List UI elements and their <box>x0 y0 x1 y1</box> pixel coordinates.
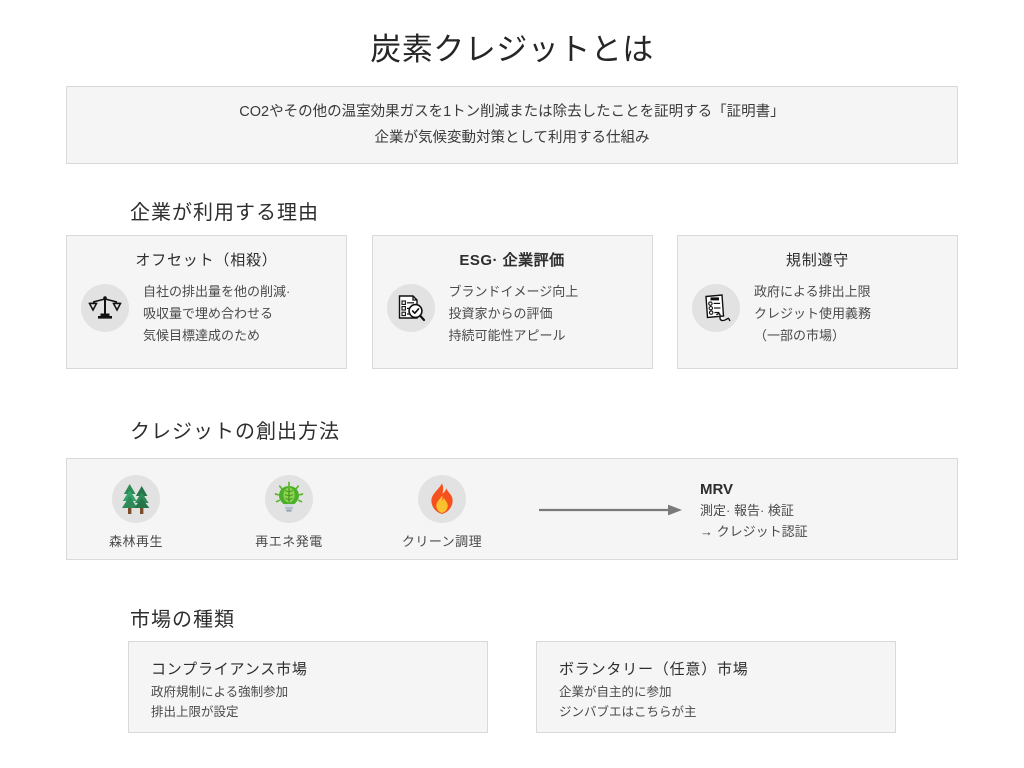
mrv-line: → クレジット認証 <box>700 521 808 542</box>
creation-method-renewable: 再エネ発電 <box>234 475 344 550</box>
icon-circle <box>692 284 740 332</box>
mrv-block: MRV 測定· 報告· 検証 → クレジット認証 <box>700 479 808 542</box>
market-card-compliance: コンプライアンス市場 政府規制による強制参加 排出上限が設定 <box>128 641 488 733</box>
reason-line: ブランドイメージ向上 <box>449 281 579 303</box>
reason-card-body: 自社の排出量を他の削減· 吸収量で埋め合わせる 気候目標達成のため <box>81 280 336 347</box>
reason-line: （一部の市場） <box>754 325 871 347</box>
mrv-title: MRV <box>700 479 808 500</box>
reason-line: 気候目標達成のため <box>143 325 290 347</box>
market-line: 排出上限が設定 <box>151 702 487 722</box>
market-line: 企業が自主的に参加 <box>559 682 895 702</box>
reason-card-esg: ESG· 企業評価 <box>372 235 653 369</box>
creation-method-label: クリーン調理 <box>387 531 497 550</box>
market-line: 政府規制による強制参加 <box>151 682 487 702</box>
section-heading-markets: 市場の種類 <box>130 603 235 632</box>
market-line: ジンバブエはこちらが主 <box>559 702 895 722</box>
infographic-page: 炭素クレジットとは CO2やその他の温室効果ガスを1トン削減または除去したことを… <box>0 0 1024 768</box>
reason-line: 持続可能性アピール <box>449 325 579 347</box>
reason-card-lines: 政府による排出上限 クレジット使用義務 （一部の市場） <box>754 280 871 347</box>
reason-line: 吸収量で埋め合わせる <box>143 303 290 325</box>
markets-row: コンプライアンス市場 政府規制による強制参加 排出上限が設定 ボランタリー（任意… <box>128 641 896 733</box>
reason-card-title: オフセット（相殺） <box>67 249 346 270</box>
subtitle-line-2: 企業が気候変動対策として利用する仕組み <box>374 125 649 151</box>
mrv-line: 測定· 報告· 検証 <box>700 500 808 521</box>
reason-card-compliance: 規制遵守 政府による排出上限 <box>677 235 958 369</box>
reason-line: 政府による排出上限 <box>754 281 871 303</box>
right-arrow-icon <box>539 504 684 516</box>
green-lightbulb-icon <box>271 481 307 517</box>
subtitle-box: CO2やその他の温室効果ガスを1トン削減または除去したことを証明する「証明書」 … <box>66 86 958 164</box>
icon-circle <box>387 284 435 332</box>
reason-line: 自社の排出量を他の削減· <box>143 281 290 303</box>
reason-card-offset: オフセット（相殺） <box>66 235 347 369</box>
page-title: 炭素クレジットとは <box>0 24 1024 69</box>
icon-circle <box>112 475 160 523</box>
subtitle-line-1: CO2やその他の温室効果ガスを1トン削減または除去したことを証明する「証明書」 <box>239 99 784 125</box>
creation-method-cooking: クリーン調理 <box>387 475 497 550</box>
icon-circle <box>265 475 313 523</box>
balance-scale-icon <box>88 291 122 325</box>
rules-checklist-icon <box>699 291 733 325</box>
reason-line: クレジット使用義務 <box>754 303 871 325</box>
flame-icon <box>425 482 459 516</box>
document-audit-icon <box>394 291 428 325</box>
reason-card-title: 規制遵守 <box>678 249 957 270</box>
creation-band: 森林再生 <box>66 458 958 560</box>
market-title: コンプライアンス市場 <box>151 658 487 682</box>
evergreen-trees-icon <box>118 481 154 517</box>
section-heading-reasons: 企業が利用する理由 <box>130 196 319 225</box>
creation-method-label: 森林再生 <box>81 531 191 550</box>
reason-line: 投資家からの評価 <box>449 303 579 325</box>
icon-circle <box>418 475 466 523</box>
reasons-row: オフセット（相殺） <box>66 235 958 369</box>
market-card-voluntary: ボランタリー（任意）市場 企業が自主的に参加 ジンバブエはこちらが主 <box>536 641 896 733</box>
section-heading-creation: クレジットの創出方法 <box>130 415 340 444</box>
reason-card-lines: ブランドイメージ向上 投資家からの評価 持続可能性アピール <box>449 280 579 347</box>
reason-card-body: ブランドイメージ向上 投資家からの評価 持続可能性アピール <box>387 280 642 347</box>
creation-method-label: 再エネ発電 <box>234 531 344 550</box>
reason-card-body: 政府による排出上限 クレジット使用義務 （一部の市場） <box>692 280 947 347</box>
icon-circle <box>81 284 129 332</box>
market-title: ボランタリー（任意）市場 <box>559 658 895 682</box>
creation-method-forest: 森林再生 <box>81 475 191 550</box>
reason-card-title: ESG· 企業評価 <box>373 249 652 270</box>
reason-card-lines: 自社の排出量を他の削減· 吸収量で埋め合わせる 気候目標達成のため <box>143 280 290 347</box>
